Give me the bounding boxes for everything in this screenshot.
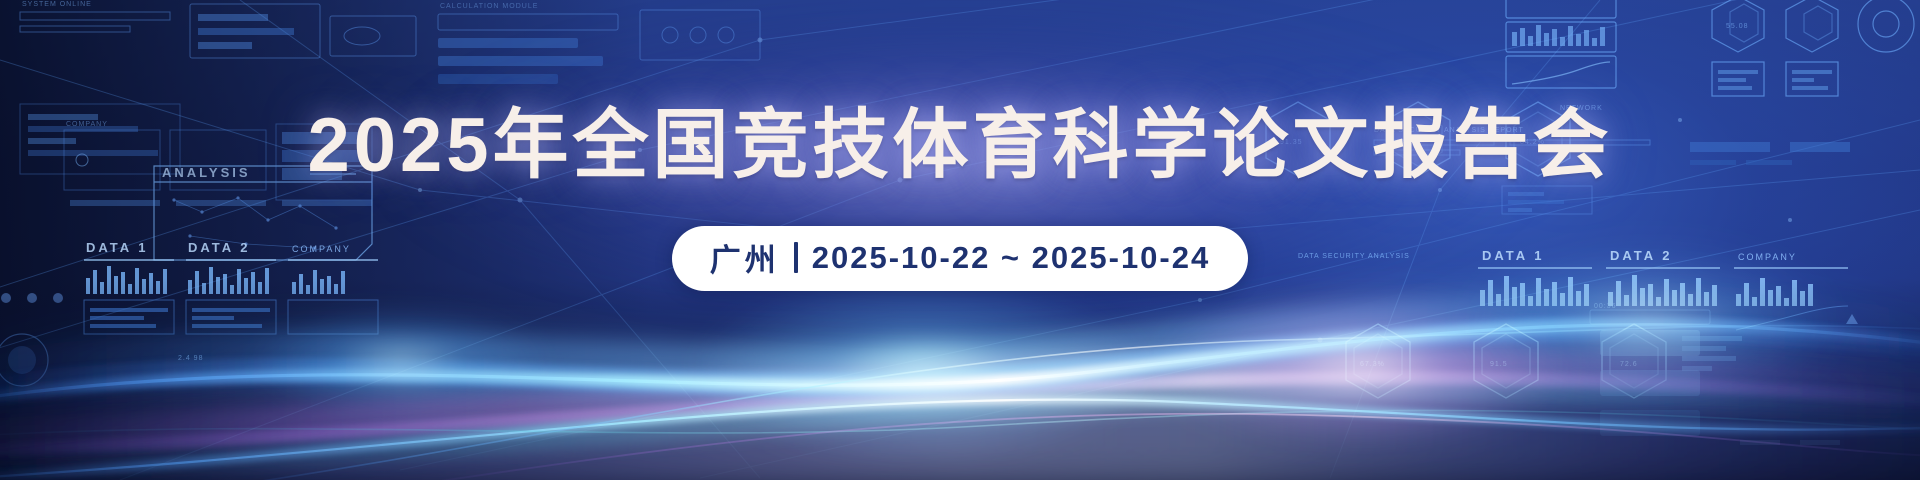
event-city: 广州 bbox=[710, 235, 780, 280]
event-banner: SYSTEM ONLINE CALCULATION MODULE bbox=[0, 0, 1920, 480]
pill-separator-icon bbox=[794, 242, 798, 273]
banner-content: 2025年全国竞技体育科学论文报告会 广州 2025-10-22 ~ 2025-… bbox=[0, 0, 1920, 480]
event-info-pill: 广州 2025-10-22 ~ 2025-10-24 bbox=[672, 226, 1248, 291]
event-dates: 2025-10-22 ~ 2025-10-24 bbox=[812, 240, 1210, 276]
page-title: 2025年全国竞技体育科学论文报告会 bbox=[307, 108, 1612, 184]
